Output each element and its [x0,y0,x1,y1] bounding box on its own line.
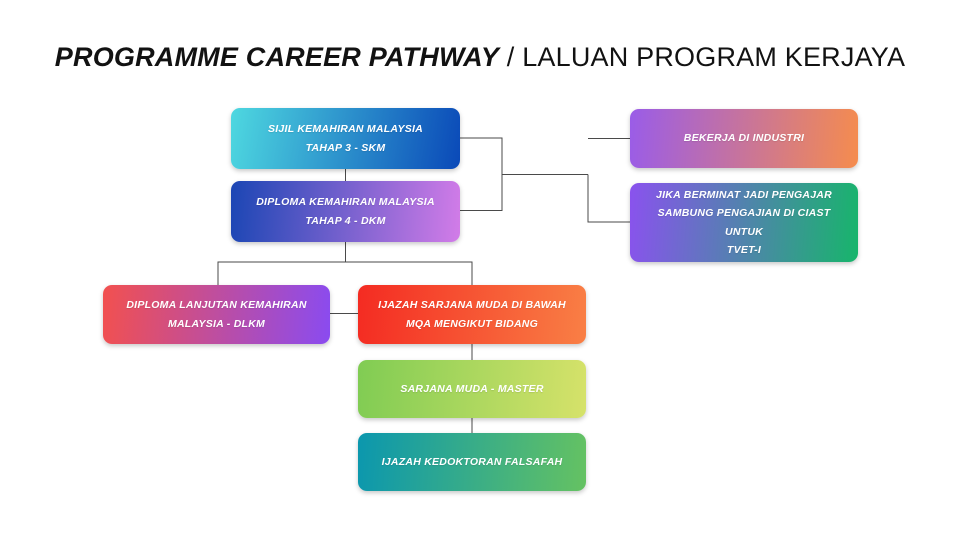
node-phd[interactable]: IJAZAH KEDOKTORAN FALSAFAH [358,433,586,491]
node-pengajar[interactable]: JIKA BERMINAT JADI PENGAJAR SAMBUNG PENG… [630,183,858,262]
node-label-industri: BEKERJA DI INDUSTRI [684,129,804,147]
node-label-dlkm: DIPLOMA LANJUTAN KEMAHIRAN MALAYSIA - DL… [126,296,306,333]
connector-path [218,242,346,285]
node-industri[interactable]: BEKERJA DI INDUSTRI [630,109,858,168]
node-dkm[interactable]: DIPLOMA KEMAHIRAN MALAYSIA TAHAP 4 - DKM [231,181,460,242]
page-title-separator: / [499,42,522,72]
node-label-phd: IJAZAH KEDOKTORAN FALSAFAH [382,453,563,471]
node-dlkm[interactable]: DIPLOMA LANJUTAN KEMAHIRAN MALAYSIA - DL… [103,285,330,344]
node-master[interactable]: SARJANA MUDA - MASTER [358,360,586,418]
node-label-pengajar: JIKA BERMINAT JADI PENGAJAR SAMBUNG PENG… [644,186,844,260]
page-title: PROGRAMME CAREER PATHWAY / LALUAN PROGRA… [0,42,960,73]
node-skm[interactable]: SIJIL KEMAHIRAN MALAYSIA TAHAP 3 - SKM [231,108,460,169]
node-label-master: SARJANA MUDA - MASTER [400,380,543,398]
connector-path [460,138,502,211]
page-title-emphasis: PROGRAMME CAREER PATHWAY [55,42,499,72]
diagram-canvas: PROGRAMME CAREER PATHWAY / LALUAN PROGRA… [0,0,960,540]
node-label-skm: SIJIL KEMAHIRAN MALAYSIA TAHAP 3 - SKM [268,120,423,157]
node-ijazah[interactable]: IJAZAH SARJANA MUDA DI BAWAH MQA MENGIKU… [358,285,586,344]
page-title-rest: LALUAN PROGRAM KERJAYA [522,42,905,72]
connector-path [588,175,630,223]
node-label-dkm: DIPLOMA KEMAHIRAN MALAYSIA TAHAP 4 - DKM [256,193,435,230]
connector-path [346,262,473,285]
node-label-ijazah: IJAZAH SARJANA MUDA DI BAWAH MQA MENGIKU… [378,296,566,333]
